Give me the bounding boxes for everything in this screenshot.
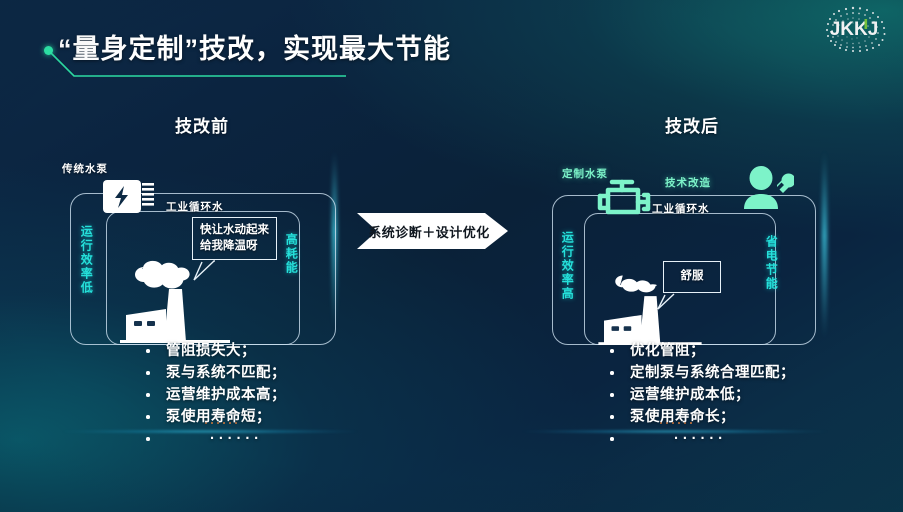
panel-before: 技改前 传统水泵 工业循环水 运行效率低 高耗能 — [62, 112, 342, 353]
page-title-block: “量身定制”技改，实现最大节能 — [58, 36, 451, 63]
before-efficiency-label: 运行效率低 — [79, 225, 92, 295]
before-pump-label: 传统水泵 — [62, 161, 108, 176]
list-item: 泵与系统不匹配； — [140, 362, 286, 384]
panel-after: 技改后 定制水泵 工业循环水 — [540, 112, 830, 353]
center-arrow-label: 系统诊断＋设计优化 — [357, 210, 509, 252]
list-item: 运营维护成本低； — [604, 384, 795, 406]
list-item: 泵使用寿命长； — [604, 406, 795, 428]
after-speech-bubble: 舒服 — [663, 261, 721, 293]
list-item: 运营维护成本高； — [140, 384, 286, 406]
panel-after-diagram: 定制水泵 工业循环水 技术改造 运行效率高 省电节能 — [540, 153, 830, 353]
list-item: 管阻损失大； — [140, 340, 286, 362]
after-bubble-line1: 舒服 — [681, 269, 704, 285]
before-bubble-tail-icon — [192, 260, 222, 282]
panel-before-title: 技改前 — [62, 112, 342, 137]
engineer-wrench-icon — [740, 165, 794, 213]
panel-after-title: 技改后 — [540, 112, 830, 137]
before-bubble-line1: 快让水动起来 — [200, 223, 269, 239]
after-pump-label: 定制水泵 — [562, 166, 608, 181]
logo-wordmark: JKKJ — [830, 19, 879, 40]
title-underline-icon — [48, 50, 348, 78]
list-item: ······ — [604, 428, 795, 450]
before-bullet-list: 管阻损失大； 泵与系统不匹配； 运营维护成本高； 泵使用寿命短； ······ — [100, 340, 286, 450]
brand-logo[interactable]: JKKJ — [813, 2, 893, 54]
list-item: 优化管阻； — [604, 340, 795, 362]
list-item: 定制泵与系统合理匹配； — [604, 362, 795, 384]
panel-before-diagram: 传统水泵 工业循环水 运行效率低 高耗能 快让水动起来 — [62, 153, 342, 353]
after-bubble-tail-icon — [656, 293, 682, 311]
after-water-label: 工业循环水 — [652, 201, 710, 216]
list-item: ······ — [140, 428, 286, 450]
list-item: 泵使用寿命短； — [140, 406, 286, 428]
before-water-label: 工业循环水 — [166, 199, 224, 214]
before-speech-bubble: 快让水动起来 给我降温呀 — [192, 217, 277, 260]
after-efficiency-label: 运行效率高 — [560, 231, 573, 301]
before-energy-label: 高耗能 — [284, 233, 297, 275]
before-bubble-line2: 给我降温呀 — [200, 239, 269, 255]
after-bullet-list: 优化管阻； 定制泵与系统合理匹配； 运营维护成本低； 泵使用寿命长； ·····… — [564, 340, 795, 450]
electric-pump-icon — [102, 173, 168, 219]
center-arrow[interactable]: 系统诊断＋设计优化 — [357, 210, 509, 252]
after-saving-label: 省电节能 — [764, 235, 777, 291]
after-engineer-label: 技术改造 — [665, 175, 711, 190]
slide-canvas: JKKJ “量身定制”技改，实现最大节能 技改前 — [0, 0, 903, 512]
